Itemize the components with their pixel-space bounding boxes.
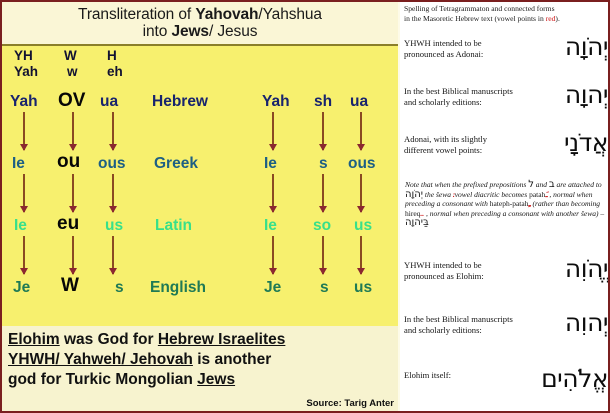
transliteration-diagram: YH W H Yah w eh Yah OV ua Hebrew Yah sh … xyxy=(2,44,398,326)
reference-entry-4-label: YHWH intended to be pronounced as Elohim… xyxy=(404,260,516,281)
reference-entry-6-hebrew: אֱלֹהִים xyxy=(541,364,608,393)
conclusion-line-1-mid: was God for xyxy=(60,331,158,348)
conclusion-block: Elohim was God for Hebrew Israelites YHW… xyxy=(2,326,398,411)
note-t8: hateph-patah xyxy=(490,199,529,208)
note-t1: Note that when the prefixed prepositions xyxy=(405,180,528,189)
reference-entry-1-label: YHWH intended to be pronounced as Adonai… xyxy=(404,38,516,59)
reference-entry-2: In the best Biblical manuscripts and sch… xyxy=(404,86,608,124)
greek-right-2: s xyxy=(319,156,328,172)
right-panel-header-line2-end: ). xyxy=(555,14,559,23)
greek-right-3: ous xyxy=(348,156,376,172)
conclusion-line-2-tail: is another xyxy=(193,351,271,368)
note-t3: are attached to xyxy=(555,180,602,189)
note-t4: the šewa xyxy=(423,190,453,199)
left-diagram-panel: Transliteration of Yahovah/Yahshua into … xyxy=(2,2,398,411)
title-line-1-bold: Yahovah xyxy=(195,6,258,23)
title-line-2-bold: Jews xyxy=(171,23,209,40)
hebrew-right-3: ua xyxy=(350,94,368,110)
arrow-right-col3-r1 xyxy=(360,112,362,150)
reference-note: Note that when the prefixed prepositions… xyxy=(405,180,607,228)
english-left-2: W xyxy=(61,276,79,295)
key-h: H xyxy=(107,49,117,63)
conclusion-jews: Jews xyxy=(197,371,235,388)
arrow-left-col1-r2 xyxy=(23,174,25,212)
reference-entry-5: In the best Biblical manuscripts and sch… xyxy=(404,314,608,352)
title-block: Transliteration of Yahovah/Yahshua into … xyxy=(2,2,398,44)
title-line-1-suffix: /Yahshua xyxy=(258,6,322,23)
latin-right-1: Ie xyxy=(264,218,277,234)
note-hebrew-end: בַּיהוָה xyxy=(405,217,429,228)
reference-entry-3-label: Adonai, with its slightly different vowe… xyxy=(404,134,516,155)
source-attribution: Source: Tarig Anter xyxy=(306,398,394,409)
right-reference-panel: Spelling of Tetragrammaton and connected… xyxy=(400,2,610,411)
reference-entry-3-hebrew: אֲדֹנָי xyxy=(564,128,608,157)
latin-right-2: so xyxy=(313,218,331,234)
key-yh: YH xyxy=(14,49,33,63)
hebrew-right-1: Yah xyxy=(262,94,290,110)
arrow-left-col3-r1 xyxy=(112,112,114,150)
conclusion-line-1: Elohim was God for Hebrew Israelites xyxy=(8,330,392,350)
english-right-3: us xyxy=(354,280,372,296)
conclusion-line-3: god for Turkic Mongolian Jews xyxy=(8,370,392,390)
hebrew-right-2: sh xyxy=(314,94,332,110)
arrow-right-col2-r1 xyxy=(322,112,324,150)
greek-right-1: Ie xyxy=(264,156,277,172)
reference-entry-5-label: In the best Biblical manuscripts and sch… xyxy=(404,314,516,335)
reference-entry-4-hebrew: יֱהֹוִה xyxy=(565,254,608,283)
arrow-left-col2-r3 xyxy=(72,236,74,274)
conclusion-elohim: Elohim xyxy=(8,331,60,348)
greek-left-2: ou xyxy=(57,152,80,171)
language-label-hebrew: Hebrew xyxy=(152,94,208,110)
note-t6: patah xyxy=(529,190,545,199)
arrow-right-col3-r2 xyxy=(360,174,362,212)
latin-left-3: us xyxy=(105,218,123,234)
english-left-3: s xyxy=(115,280,124,296)
latin-left-1: Ie xyxy=(14,218,27,234)
arrow-right-col2-r2 xyxy=(322,174,324,212)
title-line-1-prefix: Transliteration of xyxy=(78,6,195,23)
note-hebrew-yhwh: יְהֹוָה xyxy=(405,189,423,200)
language-label-latin: Latin xyxy=(155,218,192,234)
reference-entry-2-label: In the best Biblical manuscripts and sch… xyxy=(404,86,516,107)
note-t9: (rather than becoming xyxy=(531,199,600,208)
language-label-english: English xyxy=(150,280,206,296)
title-line-1: Transliteration of Yahovah/Yahshua xyxy=(2,6,398,23)
conclusion-line-3-head: god for Turkic Mongolian xyxy=(8,371,197,388)
reference-entry-5-hebrew: יְהוִה xyxy=(565,308,608,337)
title-line-2-prefix: into xyxy=(143,23,172,40)
hebrew-left-3: ua xyxy=(100,94,118,110)
key-w: W xyxy=(64,49,77,63)
greek-left-1: Ie xyxy=(12,156,25,172)
arrow-left-col3-r3 xyxy=(112,236,114,274)
reference-entry-6-label: Elohim itself: xyxy=(404,370,516,381)
latin-right-3: us xyxy=(354,218,372,234)
note-t11: , normal when preceding a consonant with… xyxy=(424,209,604,218)
reference-entry-4: YHWH intended to be pronounced as Elohim… xyxy=(404,260,608,298)
key-w-lower: w xyxy=(67,65,78,79)
arrow-left-col1-r3 xyxy=(23,236,25,274)
arrow-right-col1-r3 xyxy=(272,236,274,274)
hebrew-left-2: OV xyxy=(58,91,85,110)
key-yah: Yah xyxy=(14,65,38,79)
conclusion-hebrew-israelites: Hebrew Israelites xyxy=(158,331,286,348)
infographic-root: Transliteration of Yahovah/Yahshua into … xyxy=(0,0,610,413)
greek-left-3: ous xyxy=(98,156,126,172)
reference-entry-1: YHWH intended to be pronounced as Adonai… xyxy=(404,38,608,76)
hebrew-left-1: Yah xyxy=(10,94,38,110)
english-right-2: s xyxy=(320,280,329,296)
reference-entry-2-hebrew: יְהוָה xyxy=(565,80,608,109)
right-panel-header: Spelling of Tetragrammaton and connected… xyxy=(404,4,608,23)
arrow-left-col2-r2 xyxy=(72,174,74,212)
arrow-right-col3-r3 xyxy=(360,236,362,274)
key-eh: eh xyxy=(107,65,123,79)
right-panel-header-line2: in the Masoretic Hebrew text (vowel poin… xyxy=(404,14,546,23)
english-right-1: Je xyxy=(264,280,281,296)
reference-entry-3: Adonai, with its slightly different vowe… xyxy=(404,134,608,172)
arrow-right-col2-r3 xyxy=(322,236,324,274)
note-t5: vowel diacritic becomes xyxy=(453,190,529,199)
english-left-1: Je xyxy=(13,280,30,296)
arrow-right-col1-r1 xyxy=(272,112,274,150)
title-line-2: into Jews/ Jesus xyxy=(2,23,398,40)
arrow-left-col1-r1 xyxy=(23,112,25,150)
note-t2: and xyxy=(534,180,549,189)
arrow-right-col1-r2 xyxy=(272,174,274,212)
arrow-left-col2-r1 xyxy=(72,112,74,150)
right-panel-header-red: red xyxy=(546,14,556,23)
conclusion-line-2: YHWH/ Yahweh/ Jehovah is another xyxy=(8,350,392,370)
conclusion-yhwh: YHWH/ Yahweh/ Jehovah xyxy=(8,351,193,368)
reference-entry-6: Elohim itself: אֱלֹהִים xyxy=(404,370,608,408)
right-panel-header-line1: Spelling of Tetragrammaton and connected… xyxy=(404,4,555,13)
title-line-2-suffix: / Jesus xyxy=(209,23,257,40)
reference-entry-1-hebrew: יְהֹוָה xyxy=(565,32,608,61)
latin-left-2: eu xyxy=(57,214,79,233)
arrow-left-col3-r2 xyxy=(112,174,114,212)
language-label-greek: Greek xyxy=(154,156,198,172)
